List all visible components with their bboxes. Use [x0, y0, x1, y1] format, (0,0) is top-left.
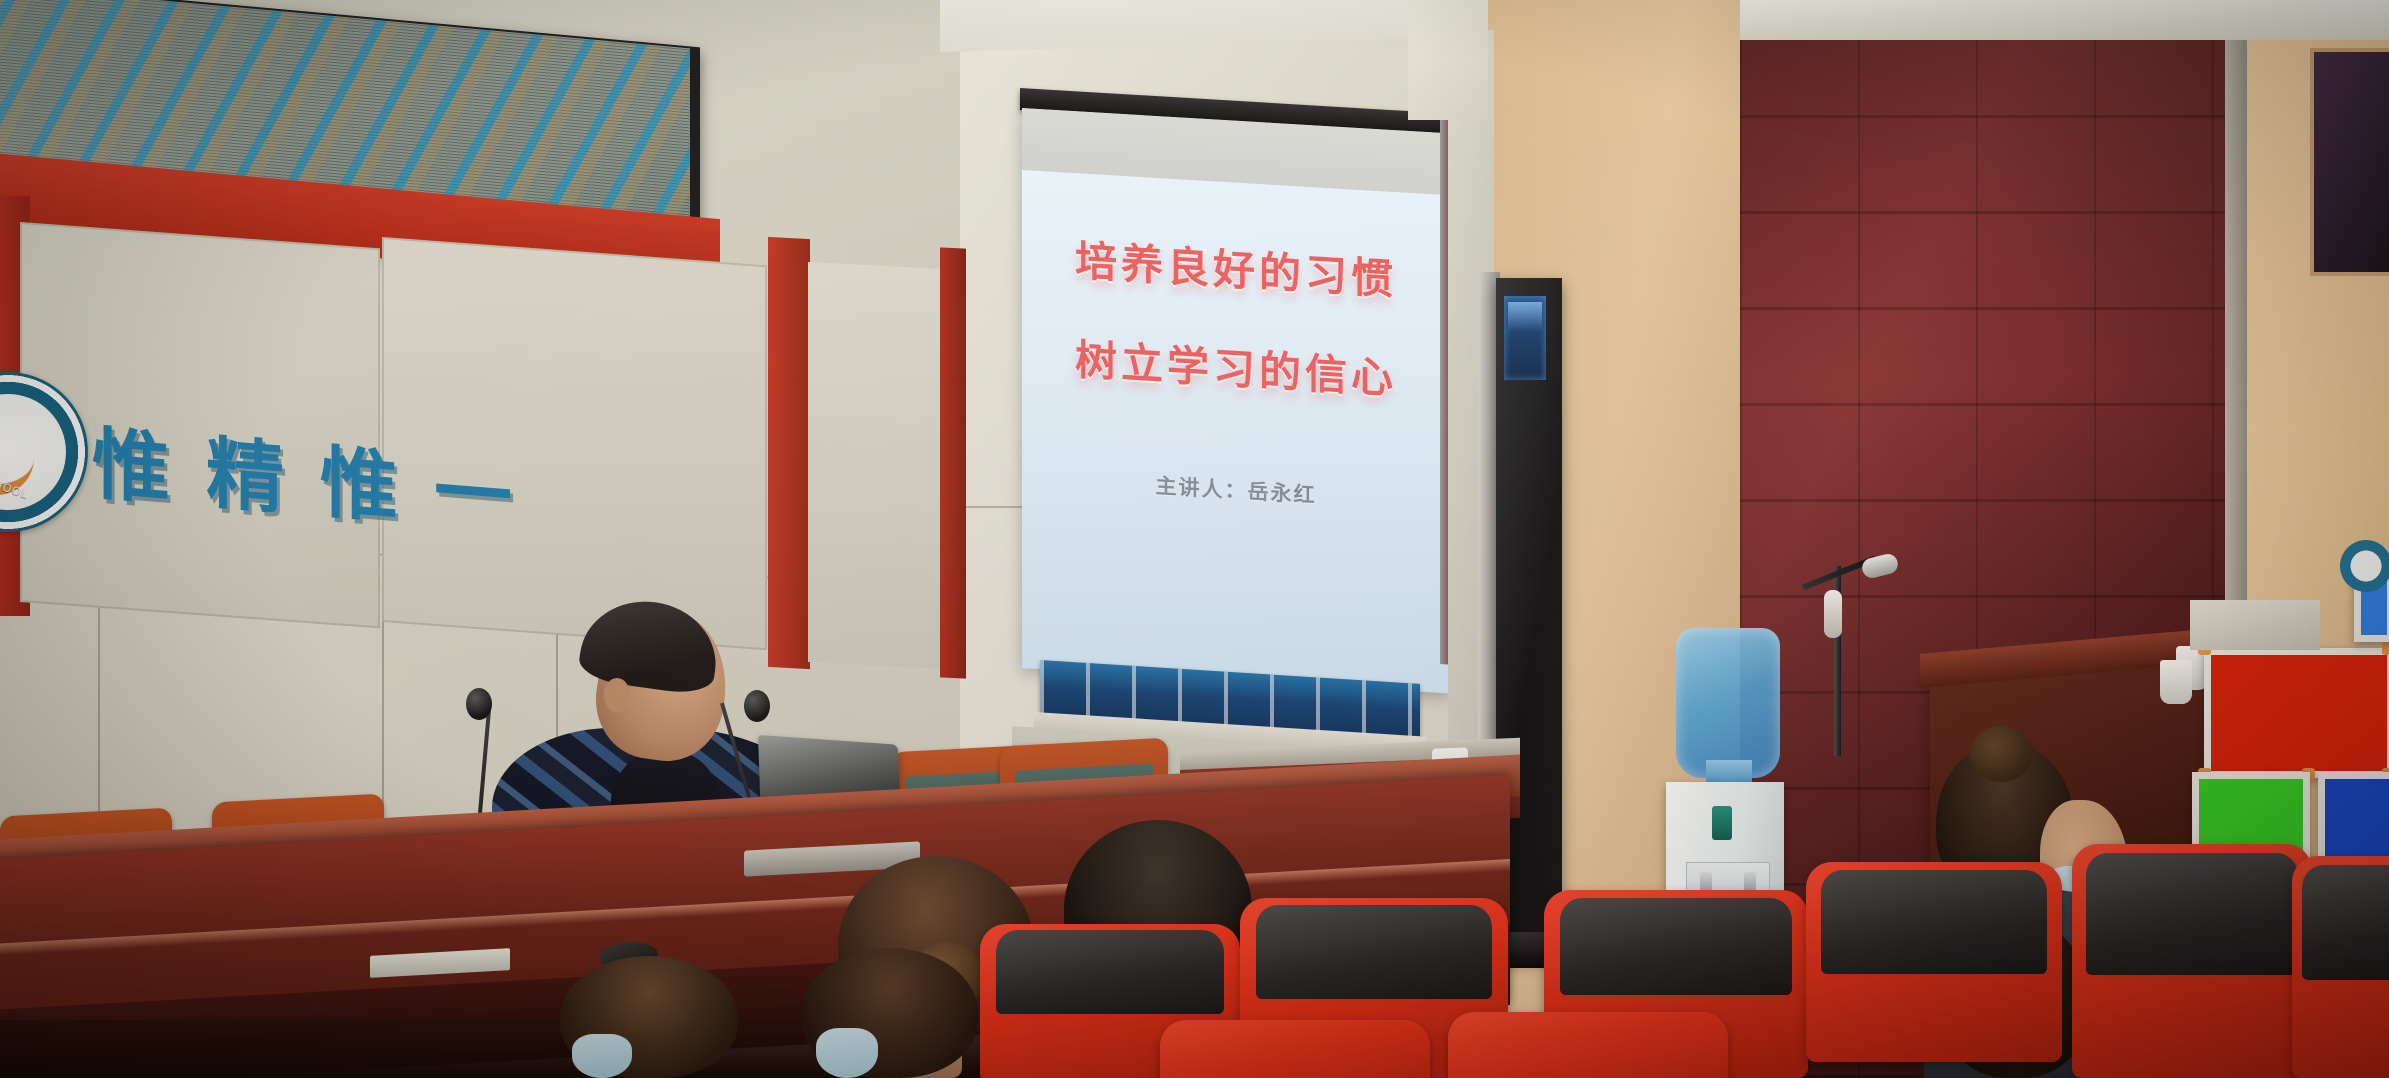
audience-seat[interactable]	[2292, 856, 2389, 1078]
cube-shelf-red	[2204, 648, 2389, 778]
seat-headrest-dark	[1560, 898, 1792, 996]
seat-headrest-dark	[1256, 905, 1492, 999]
seat-headrest-dark	[2302, 865, 2389, 980]
presenter-ear	[604, 678, 630, 712]
microphone-head-right[interactable]	[744, 690, 770, 722]
microphone-head-left[interactable]	[466, 688, 492, 720]
wall-column-cream	[1408, 0, 1488, 120]
water-dispenser-indicator	[1712, 806, 1732, 840]
tower-display-glow	[1508, 302, 1542, 332]
seat-headrest-dark	[2086, 853, 2297, 975]
seat-back-red	[1160, 1020, 1430, 1078]
seat-back-red	[1448, 1012, 1728, 1078]
wall-seam-horizontal	[960, 506, 1030, 508]
cube-shelf-white-top	[2190, 600, 2320, 650]
audience-seat[interactable]	[2072, 844, 2312, 1078]
ceiling-right	[1740, 0, 2389, 40]
water-bottle	[1676, 628, 1780, 778]
cube-corner-connector	[2382, 642, 2389, 655]
audience-seat[interactable]	[1160, 1020, 1430, 1078]
audience-face-mask	[572, 1034, 632, 1078]
audience-seat[interactable]	[1448, 1012, 1728, 1078]
dark-window-right	[2310, 48, 2389, 276]
lecture-hall-photo: SCHOOL 惟精惟一 培养良好的习惯 树立学习的信心 主讲人：岳永红	[0, 0, 2389, 1078]
seat-headrest-dark	[1821, 870, 2046, 974]
microphone-clip	[1824, 590, 1842, 638]
projection-screen: 培养良好的习惯 树立学习的信心 主讲人：岳永红	[1022, 108, 1450, 693]
seat-headrest-dark	[996, 930, 1225, 1013]
audience-seat[interactable]	[1806, 862, 2062, 1062]
wall-emblem-right	[2340, 540, 2389, 592]
slide-content: 培养良好的习惯 树立学习的信心 主讲人：岳永红	[1022, 170, 1450, 693]
red-frame-post-mid2	[940, 247, 966, 678]
audience-face-mask	[816, 1028, 878, 1078]
audience-hair-bun	[1970, 726, 2032, 782]
paper-cup-right	[2160, 660, 2192, 704]
